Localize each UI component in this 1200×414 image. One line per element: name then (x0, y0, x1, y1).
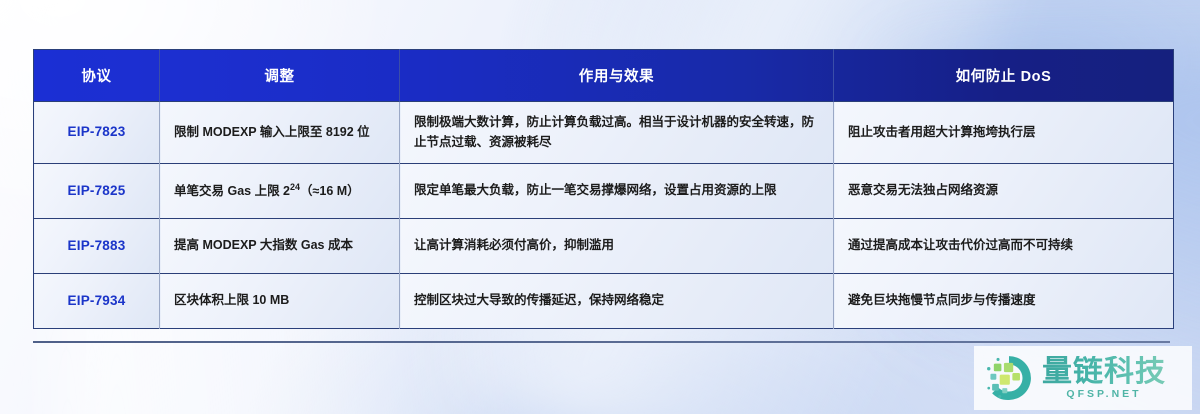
cell-effect: 限制极端大数计算，防止计算负载过高。相当于设计机器的安全转速，防止节点过载、资源… (400, 102, 834, 164)
cell-change-prefix: 单笔交易 Gas 上限 2 (174, 184, 290, 198)
cell-protocol: EIP-7883 (34, 219, 160, 274)
eip-comparison-table: 协议 调整 作用与效果 如何防止 DoS EIP-7823 限制 MODEXP … (33, 49, 1174, 329)
cell-change-superscript: 24 (290, 182, 300, 192)
cell-dos: 阻止攻击者用超大计算拖垮执行层 (834, 102, 1174, 164)
cell-change-suffix: （≈16 M） (300, 184, 360, 198)
cell-change: 单笔交易 Gas 上限 224（≈16 M） (160, 164, 400, 219)
cell-protocol: EIP-7823 (34, 102, 160, 164)
cell-effect: 控制区块过大导致的传播延迟，保持网络稳定 (400, 274, 834, 329)
watermark-text: 量链科技 QFSP.NET (1042, 356, 1166, 401)
table-row: EIP-7823 限制 MODEXP 输入上限至 8192 位 限制极端大数计算… (34, 102, 1174, 164)
table-header-row: 协议 调整 作用与效果 如何防止 DoS (34, 50, 1174, 102)
column-header-protocol: 协议 (34, 50, 160, 102)
slide-canvas: 协议 调整 作用与效果 如何防止 DoS EIP-7823 限制 MODEXP … (0, 0, 1200, 414)
cell-dos: 通过提高成本让攻击代价过高而不可持续 (834, 219, 1174, 274)
cell-dos: 避免巨块拖慢节点同步与传播速度 (834, 274, 1174, 329)
cell-protocol: EIP-7825 (34, 164, 160, 219)
eip-comparison-table-container: 协议 调整 作用与效果 如何防止 DoS EIP-7823 限制 MODEXP … (33, 49, 1173, 329)
watermark-domain: QFSP.NET (1042, 388, 1166, 400)
watermark-brand: 量链科技 (1042, 356, 1166, 388)
cell-change: 提高 MODEXP 大指数 Gas 成本 (160, 219, 400, 274)
cell-effect: 让高计算消耗必须付高价，抑制滥用 (400, 219, 834, 274)
quantum-chain-logo-icon (982, 351, 1036, 405)
cell-change: 限制 MODEXP 输入上限至 8192 位 (160, 102, 400, 164)
table-row: EIP-7825 单笔交易 Gas 上限 224（≈16 M） 限定单笔最大负载… (34, 164, 1174, 219)
cell-protocol: EIP-7934 (34, 274, 160, 329)
cell-change: 区块体积上限 10 MB (160, 274, 400, 329)
cell-dos: 恶意交易无法独占网络资源 (834, 164, 1174, 219)
table-row: EIP-7934 区块体积上限 10 MB 控制区块过大导致的传播延迟，保持网络… (34, 274, 1174, 329)
column-header-change: 调整 (160, 50, 400, 102)
column-header-effect: 作用与效果 (400, 50, 834, 102)
watermark-logo: 量链科技 QFSP.NET (974, 346, 1192, 410)
table-row: EIP-7883 提高 MODEXP 大指数 Gas 成本 让高计算消耗必须付高… (34, 219, 1174, 274)
cell-effect: 限定单笔最大负载，防止一笔交易撑爆网络，设置占用资源的上限 (400, 164, 834, 219)
table-body: EIP-7823 限制 MODEXP 输入上限至 8192 位 限制极端大数计算… (34, 102, 1174, 329)
table-header: 协议 调整 作用与效果 如何防止 DoS (34, 50, 1174, 102)
section-divider (33, 341, 1170, 343)
column-header-dos: 如何防止 DoS (834, 50, 1174, 102)
